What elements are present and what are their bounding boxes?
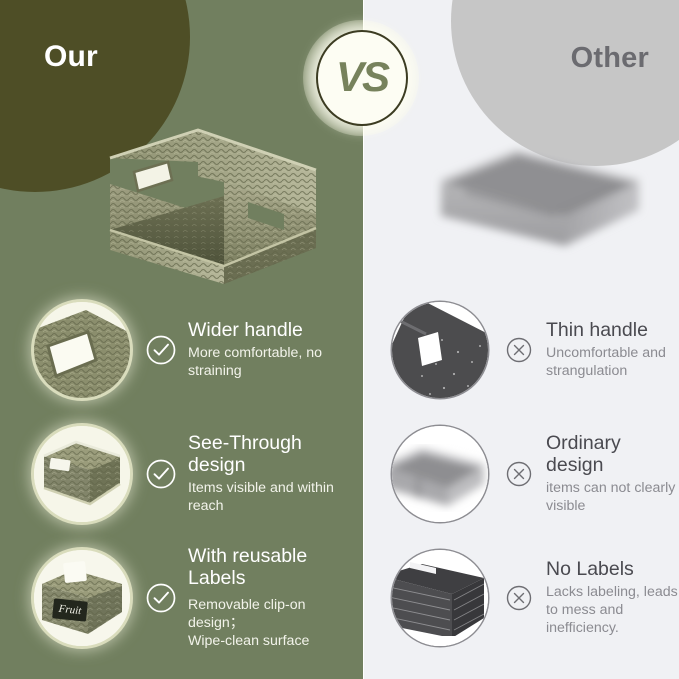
other-feature-thumbnail (392, 302, 488, 398)
check-circle-icon (144, 581, 178, 615)
our-feature-thumbnail (34, 302, 130, 398)
other-feature-title: No Labels (546, 559, 679, 581)
our-feature-subtitle: Items visible and within reach (188, 479, 363, 515)
our-feature-text: See-Through design Items visible and wit… (188, 433, 363, 515)
check-circle-icon (144, 457, 178, 491)
our-feature-row[interactable]: See-Through design Items visible and wit… (0, 412, 363, 536)
other-feature-title: Thin handle (546, 320, 679, 342)
other-feature-title: Ordinary design (546, 433, 679, 477)
our-feature-subtitle: More comfortable, no straining (188, 344, 363, 380)
other-feature-text: No Labels Lacks labeling, leads to mess … (546, 559, 679, 637)
other-feature-row[interactable]: Ordinary design items can not clearly vi… (364, 412, 679, 536)
other-feature-text: Ordinary design items can not clearly vi… (546, 433, 679, 515)
other-feature-list: Thin handle Uncomfortable and strangulat… (364, 288, 679, 660)
vs-badge: VS (316, 30, 408, 126)
our-feature-row[interactable]: Wider handle More comfortable, no strain… (0, 288, 363, 412)
other-product-image (425, 138, 655, 258)
our-feature-thumbnail: Fruit (34, 550, 130, 646)
other-feature-row[interactable]: Thin handle Uncomfortable and strangulat… (364, 288, 679, 412)
other-feature-row[interactable]: No Labels Lacks labeling, leads to mess … (364, 536, 679, 660)
our-product-image (48, 118, 323, 288)
other-header-label: Other (571, 42, 649, 75)
our-feature-title: Wider handle (188, 320, 363, 342)
other-feature-thumbnail (392, 550, 488, 646)
x-circle-icon (502, 457, 536, 491)
x-circle-icon (502, 333, 536, 367)
our-feature-text: Wider handle More comfortable, no strain… (188, 320, 363, 380)
our-feature-text: With reusable Labels Removable clip-on d… (188, 546, 363, 650)
other-feature-thumbnail (392, 426, 488, 522)
our-feature-thumbnail (34, 426, 130, 522)
our-feature-subtitle: Removable clip-on design； Wipe-clean sur… (188, 596, 363, 651)
other-feature-subtitle: Uncomfortable and strangulation (546, 344, 679, 380)
other-feature-subtitle: items can not clearly visible (546, 479, 679, 515)
our-header-label: Our (44, 40, 98, 74)
other-feature-subtitle: Lacks labeling, leads to mess and ineffi… (546, 583, 679, 638)
vs-label: VS (336, 56, 388, 98)
our-feature-title: See-Through design (188, 433, 363, 477)
comparison-infographic: Our (0, 0, 679, 679)
other-feature-text: Thin handle Uncomfortable and strangulat… (546, 320, 679, 380)
our-feature-title: With reusable Labels (188, 546, 363, 590)
our-feature-row[interactable]: Fruit With reusable Labels Removable cli… (0, 536, 363, 660)
our-feature-list: Wider handle More comfortable, no strain… (0, 288, 363, 660)
x-circle-icon (502, 581, 536, 615)
fruit-label-text: Fruit (57, 603, 83, 618)
check-circle-icon (144, 333, 178, 367)
